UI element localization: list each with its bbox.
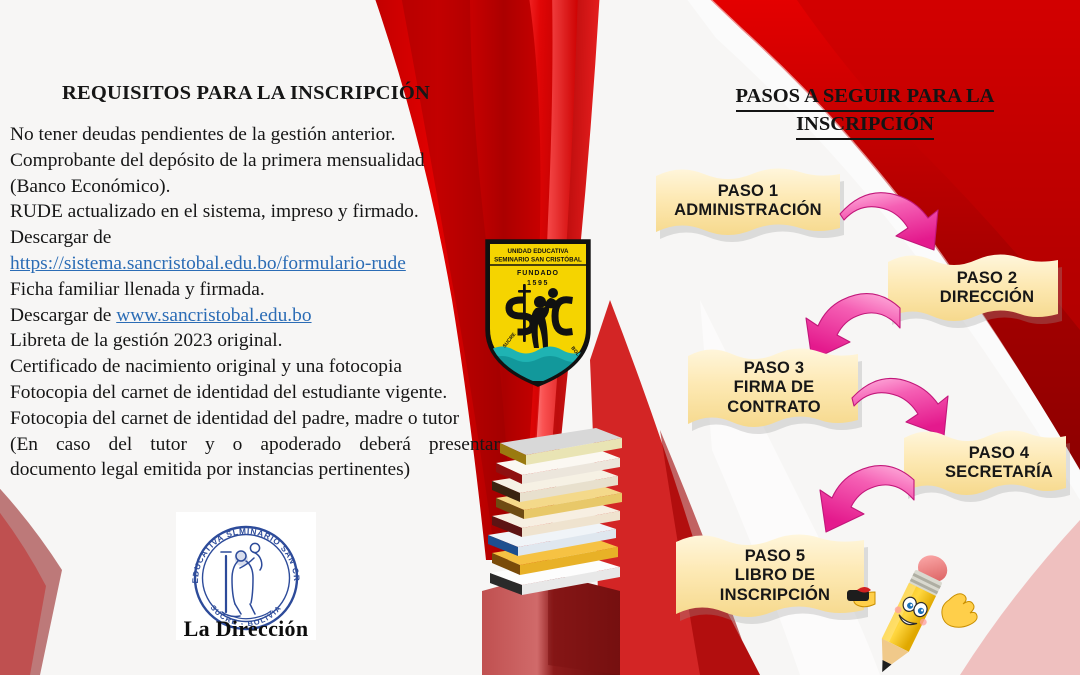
step-1-number: PASO 1 [652,182,844,201]
step-3-number: PASO 3 [684,359,864,378]
requirement-line-11: (En caso del tutor y o apoderado deberá … [10,432,500,458]
descargar-prefix-label: Descargar de [10,305,116,326]
step-5-label-line2: INSCRIPCIÓN [678,586,872,605]
step-4-number: PASO 4 [926,444,1072,463]
book-stack-illustration [470,415,640,675]
crest-line1: UNIDAD EDUCATIVA [508,248,569,255]
crest-founded-label: FUNDADO [517,270,559,277]
requirement-line-6: Ficha familiar llenada y firmada. [10,277,510,303]
requirement-line-10: Fotocopia del carnet de identidad del pa… [10,406,510,432]
crest-founded-year: 1595 [527,280,549,287]
step-3-label-line2: CONTRATO [684,398,864,417]
step-3-label-line1: FIRMA DE [684,378,864,397]
requirement-line-12: documento legal emitida por instancias p… [10,457,510,483]
step-banner-4[interactable]: PASO 4 SECRETARÍA [900,424,1072,502]
rude-form-link[interactable]: https://sistema.sancristobal.edu.bo/form… [10,253,406,274]
step-banner-1[interactable]: PASO 1 ADMINISTRACIÓN [652,162,844,242]
requirement-line-3: (Banco Económico). [10,174,510,200]
requirement-line-2: Comprobante del depósito de la primera m… [10,148,510,174]
requirement-line-1: No tener deudas pendientes de la gestión… [10,122,510,148]
steps-heading-line2: INSCRIPCIÓN [796,112,934,140]
school-site-link[interactable]: www.sancristobal.edu.bo [116,305,311,326]
requirement-line-7: Libreta de la gestión 2023 original. [10,328,510,354]
step-2-label: DIRECCIÓN [912,288,1062,307]
step-5-label-line1: LIBRO DE [678,566,872,585]
crest-line2: SEMINARIO SAN CRISTÓBAL [494,256,582,264]
step-banner-2[interactable]: PASO 2 DIRECCIÓN [884,248,1062,328]
step-2-number: PASO 2 [912,269,1062,288]
requirement-line-4: RUDE actualizado en el sistema, impreso … [10,199,510,225]
requirement-rude-link-row: https://sistema.sancristobal.edu.bo/form… [10,251,510,277]
requirements-column: REQUISITOS PARA LA INSCRIPCIÓN No tener … [0,0,540,675]
steps-heading: PASOS A SEGUIR PARA LA INSCRIPCIÓN [690,84,1040,140]
requirements-heading: REQUISITOS PARA LA INSCRIPCIÓN [0,82,492,105]
pencil-mascot-illustration [845,548,980,675]
step-banner-5[interactable]: PASO 5 LIBRO DE INSCRIPCIÓN [672,528,872,624]
pencil-waving-hand-icon [942,594,977,628]
pencil-left-arm [847,587,875,607]
requirements-list: No tener deudas pendientes de la gestión… [10,122,510,483]
steps-heading-line1: PASOS A SEGUIR PARA LA [736,84,995,112]
step-4-label: SECRETARÍA [926,463,1072,482]
requirement-descargar-row: Descargar de www.sancristobal.edu.bo [10,303,510,329]
requirement-line-9: Fotocopia del carnet de identidad del es… [10,380,510,406]
requirement-line-5: Descargar de [10,225,510,251]
seal-caption: La Dirección [168,616,324,642]
step-5-number: PASO 5 [678,547,872,566]
step-banner-3[interactable]: PASO 3 FIRMA DE CONTRATO [684,342,864,434]
flyer-canvas: REQUISITOS PARA LA INSCRIPCIÓN No tener … [0,0,1080,675]
school-crest: UNIDAD EDUCATIVA SEMINARIO SAN CRISTÓBAL… [483,238,593,388]
step-1-label: ADMINISTRACIÓN [652,201,844,220]
requirement-line-8: Certificado de nacimiento original y una… [10,354,510,380]
